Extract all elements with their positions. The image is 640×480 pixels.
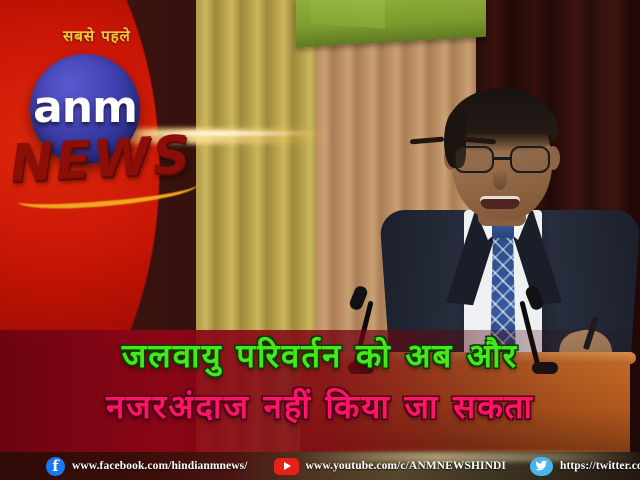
facebook-link[interactable]: f www.facebook.com/hindianmnews/ bbox=[46, 457, 248, 476]
lens-right bbox=[510, 146, 550, 173]
anm-logo-text: anm bbox=[33, 86, 137, 130]
youtube-link[interactable]: www.youtube.com/c/ANMNEWSHINDI bbox=[274, 458, 506, 475]
mouth bbox=[480, 196, 520, 209]
eyebrow-left bbox=[410, 137, 444, 145]
twitter-url: https://twitter.com/anmnews bbox=[560, 460, 640, 472]
youtube-url: www.youtube.com/c/ANMNEWSHINDI bbox=[306, 460, 506, 472]
headline-line-2: नजरअंदाज नहीं किया जा सकता bbox=[0, 383, 640, 428]
glasses-bridge bbox=[494, 157, 512, 160]
twitter-link[interactable]: https://twitter.com/anmnews bbox=[530, 457, 640, 476]
facebook-icon: f bbox=[46, 457, 65, 476]
headline-line-1: जलवायु परिवर्तन को अब और bbox=[0, 332, 640, 377]
channel-tagline: सबसे पहले bbox=[22, 26, 172, 46]
nose bbox=[493, 168, 507, 190]
twitter-icon bbox=[530, 457, 553, 476]
social-links-bar: f www.facebook.com/hindianmnews/ www.you… bbox=[0, 452, 640, 480]
facebook-url: www.facebook.com/hindianmnews/ bbox=[72, 460, 248, 472]
youtube-icon bbox=[274, 458, 299, 475]
lens-left bbox=[454, 146, 494, 173]
news-broadcast-frame: सबसे पहले anm NEWS जलवायु परिवर्तन को अब… bbox=[0, 0, 640, 480]
